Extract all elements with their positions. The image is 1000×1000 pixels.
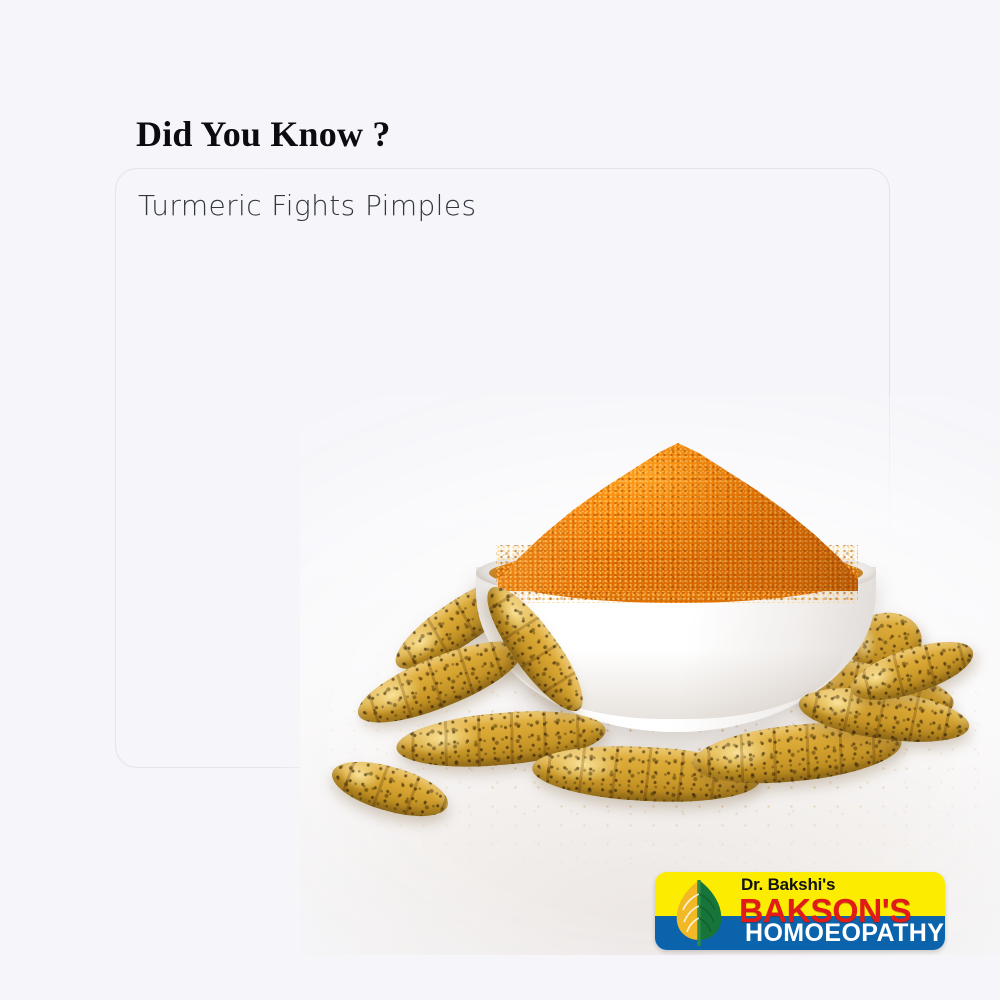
card-subtitle: Turmeric Fights Pimples — [138, 189, 476, 222]
leaf-icon — [671, 878, 727, 946]
content-card-outline-left — [115, 168, 295, 768]
turmeric-photo — [300, 395, 1000, 955]
logo-tagline: HOMOEOPATHY — [745, 919, 944, 948]
poster-canvas: Did You Know ? Turmeric Fights Pimples — [0, 0, 1000, 1000]
brand-logo[interactable]: Dr. Bakshi's BAKSON'S HOMOEOPATHY — [655, 872, 945, 950]
page-title: Did You Know ? — [136, 113, 391, 155]
